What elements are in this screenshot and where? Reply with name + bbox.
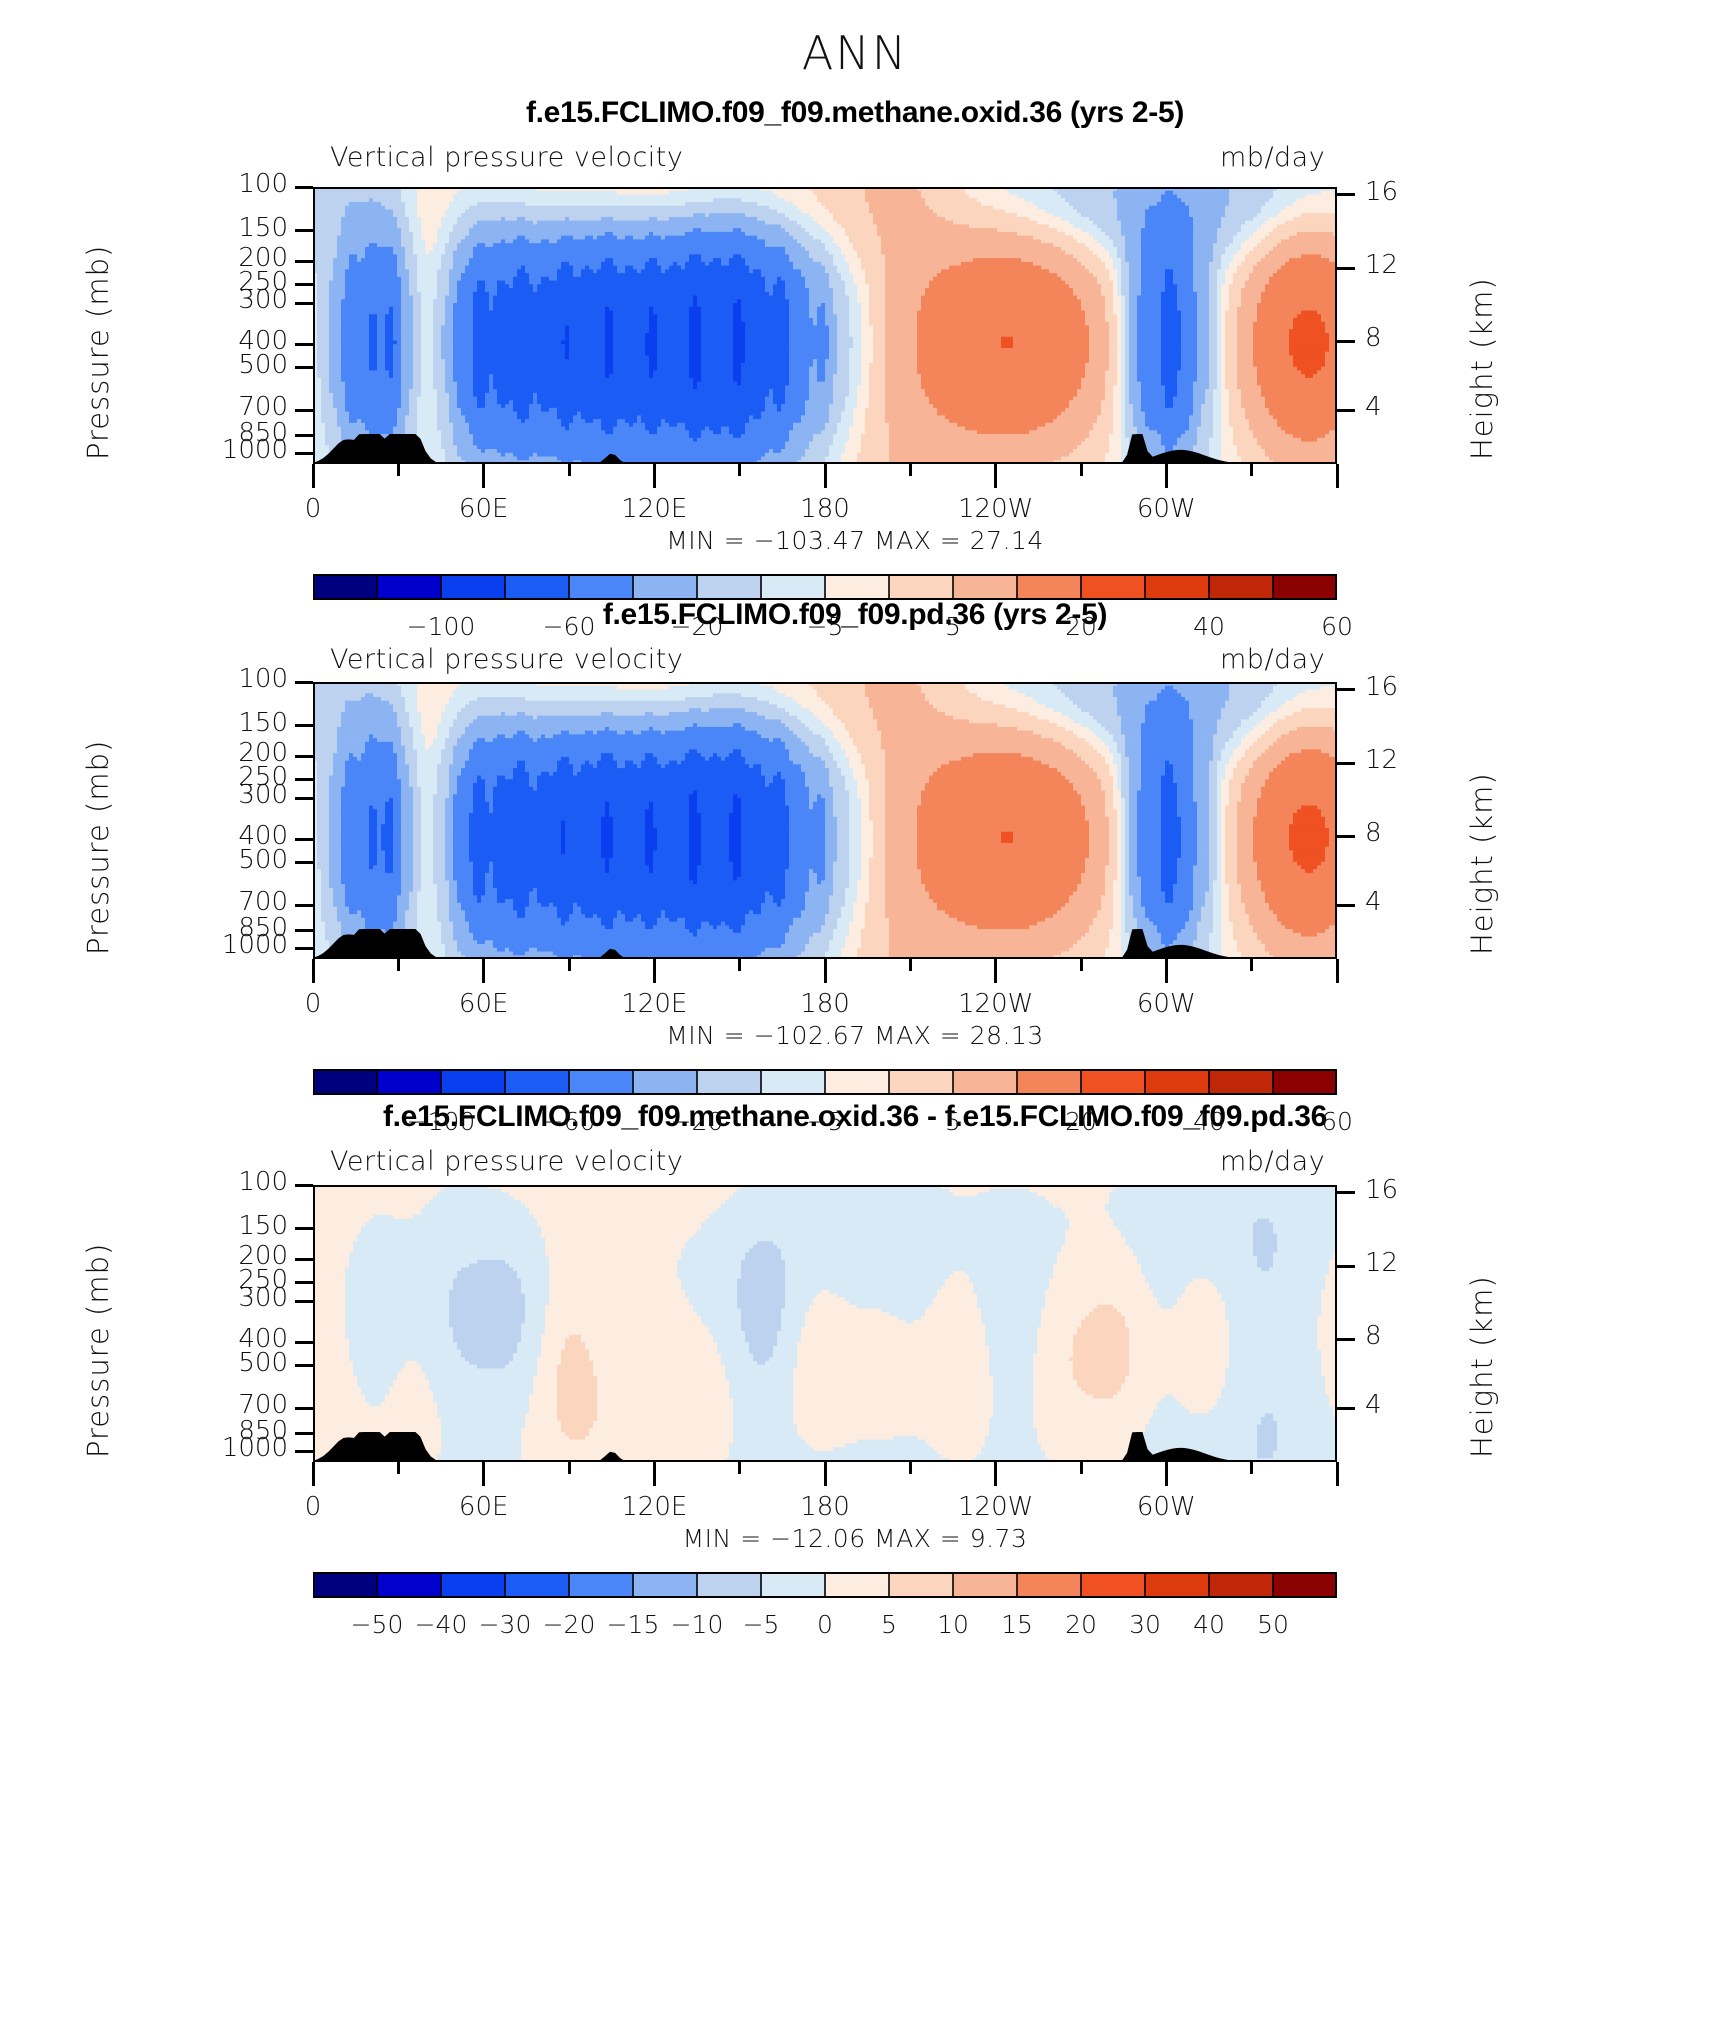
variable-label: Vertical pressure velocity [330,1146,683,1177]
lon-minor-tick [909,1462,912,1474]
height-tick [1337,193,1355,196]
pressure-tick [295,1407,313,1410]
lon-minor-tick [1080,959,1083,971]
lon-minor-tick [568,959,571,971]
contour-plot-area [313,1185,1337,1462]
pressure-tick [295,755,313,758]
lon-tick-label: 180 [755,494,895,524]
colorbar [313,1069,1337,1095]
pressure-tick-label: 500 [113,1348,288,1378]
lon-major-tick [312,959,315,983]
lon-tick-label: 60W [1096,494,1236,524]
lon-tick-label: 120E [584,1492,724,1522]
height-tick-label: 16 [1365,672,1445,702]
units-label: mb/day [1220,644,1325,675]
lon-major-tick [1336,464,1339,488]
height-axis-title: Height (km) [1465,277,1499,460]
lon-minor-tick [1250,1462,1253,1474]
lon-minor-tick [738,1462,741,1474]
height-tick-label: 12 [1365,745,1445,775]
lon-major-tick [312,1462,315,1486]
pressure-axis-title: Pressure (mb) [81,1243,115,1458]
height-tick [1337,688,1355,691]
pressure-tick-label: 300 [113,1283,288,1313]
variable-label: Vertical pressure velocity [330,142,683,173]
height-tick [1337,409,1355,412]
pressure-tick-label: 300 [113,780,288,810]
lon-major-tick [312,464,315,488]
height-tick-label: 4 [1365,1390,1445,1420]
pressure-tick [295,1281,313,1284]
pressure-tick [295,778,313,781]
lon-minor-tick [738,959,741,971]
min-max-label: MIN = −102.67 MAX = 28.13 [0,1021,1710,1050]
lon-tick-label: 180 [755,989,895,1019]
pressure-tick [295,838,313,841]
height-tick [1337,904,1355,907]
lon-tick-label: 0 [243,494,383,524]
lon-major-tick [1165,1462,1168,1486]
lon-minor-tick [1080,1462,1083,1474]
lon-major-tick [1165,959,1168,983]
pressure-tick [295,681,313,684]
lon-minor-tick [397,1462,400,1474]
lon-tick-label: 120W [926,989,1066,1019]
pressure-tick [295,929,313,932]
colorbar-tick-label: 60 [1257,612,1417,641]
pressure-tick-label: 100 [113,169,288,199]
panel-title: f.e15.FCLIMO.f09_f09.methane.oxid.36 (yr… [0,96,1710,130]
pressure-tick [295,724,313,727]
lon-tick-label: 60E [414,494,554,524]
pressure-tick-label: 1000 [113,1433,288,1463]
colorbar [313,1572,1337,1598]
min-max-label: MIN = −12.06 MAX = 9.73 [0,1524,1710,1553]
lon-major-tick [824,1462,827,1486]
colorbar [313,574,1337,600]
pressure-tick [295,186,313,189]
lon-minor-tick [397,464,400,476]
contour-plot-area [313,187,1337,464]
height-tick-label: 12 [1365,250,1445,280]
lon-tick-label: 60W [1096,1492,1236,1522]
lon-major-tick [1336,1462,1339,1486]
height-tick [1337,1338,1355,1341]
lon-minor-tick [1250,959,1253,971]
pressure-tick [295,366,313,369]
lon-minor-tick [1250,464,1253,476]
pressure-tick [295,1341,313,1344]
figure-root: ANN f.e15.FCLIMO.f09_f09.methane.oxid.36… [0,0,1710,2038]
lon-minor-tick [1080,464,1083,476]
pressure-tick [295,1258,313,1261]
height-tick-label: 12 [1365,1248,1445,1278]
pressure-axis-title: Pressure (mb) [81,740,115,955]
height-tick [1337,1265,1355,1268]
lon-major-tick [482,959,485,983]
pressure-tick [295,1450,313,1453]
lon-major-tick [653,464,656,488]
pressure-tick [295,409,313,412]
lon-major-tick [482,464,485,488]
pressure-tick [295,904,313,907]
height-tick-label: 8 [1365,1321,1445,1351]
height-tick [1337,1407,1355,1410]
pressure-tick [295,283,313,286]
height-tick [1337,762,1355,765]
height-tick-label: 8 [1365,818,1445,848]
pressure-tick-label: 300 [113,285,288,315]
lon-minor-tick [568,464,571,476]
lon-major-tick [1336,959,1339,983]
lon-minor-tick [397,959,400,971]
pressure-tick [295,343,313,346]
min-max-label: MIN = −103.47 MAX = 27.14 [0,526,1710,555]
height-tick [1337,340,1355,343]
pressure-tick [295,1184,313,1187]
lon-tick-label: 180 [755,1492,895,1522]
variable-label: Vertical pressure velocity [330,644,683,675]
contour-plot-area [313,682,1337,959]
pressure-tick [295,797,313,800]
pressure-tick [295,302,313,305]
pressure-tick [295,1364,313,1367]
pressure-tick-label: 1000 [113,435,288,465]
pressure-tick [295,861,313,864]
lon-major-tick [824,959,827,983]
height-axis-title: Height (km) [1465,1275,1499,1458]
units-label: mb/day [1220,1146,1325,1177]
lon-tick-label: 60W [1096,989,1236,1019]
lon-minor-tick [568,1462,571,1474]
lon-major-tick [653,959,656,983]
height-tick-label: 4 [1365,392,1445,422]
height-tick [1337,267,1355,270]
pressure-tick [295,1300,313,1303]
pressure-axis-title: Pressure (mb) [81,245,115,460]
colorbar-tick-label: 60 [1257,1107,1417,1136]
pressure-tick [295,1227,313,1230]
height-tick-label: 16 [1365,1175,1445,1205]
pressure-tick-label: 1000 [113,930,288,960]
panel-subheader: Vertical pressure velocity mb/day [0,142,1710,172]
lon-minor-tick [909,464,912,476]
pressure-tick-label: 100 [113,664,288,694]
height-axis-title: Height (km) [1465,772,1499,955]
lon-major-tick [482,1462,485,1486]
lon-tick-label: 0 [243,1492,383,1522]
lon-tick-label: 0 [243,989,383,1019]
height-tick-label: 8 [1365,323,1445,353]
pressure-tick-label: 100 [113,1167,288,1197]
pressure-tick-label: 150 [113,1211,288,1241]
lon-major-tick [994,959,997,983]
lon-tick-label: 120W [926,494,1066,524]
height-tick-label: 16 [1365,177,1445,207]
lon-tick-label: 120E [584,989,724,1019]
units-label: mb/day [1220,142,1325,173]
lon-tick-label: 120E [584,494,724,524]
height-tick [1337,835,1355,838]
lon-major-tick [824,464,827,488]
lon-major-tick [653,1462,656,1486]
height-tick-label: 4 [1365,887,1445,917]
lon-major-tick [994,1462,997,1486]
pressure-tick [295,229,313,232]
pressure-tick-label: 500 [113,845,288,875]
pressure-tick-label: 150 [113,213,288,243]
lon-tick-label: 60E [414,989,554,1019]
pressure-tick [295,947,313,950]
pressure-tick [295,1432,313,1435]
pressure-tick [295,260,313,263]
lon-tick-label: 60E [414,1492,554,1522]
season-title: ANN [0,26,1710,80]
height-tick [1337,1191,1355,1194]
colorbar-tick-label: 50 [1193,1610,1353,1639]
pressure-tick [295,452,313,455]
lon-minor-tick [738,464,741,476]
lon-major-tick [994,464,997,488]
lon-major-tick [1165,464,1168,488]
pressure-tick-label: 500 [113,350,288,380]
lon-minor-tick [909,959,912,971]
pressure-tick-label: 150 [113,708,288,738]
lon-tick-label: 120W [926,1492,1066,1522]
pressure-tick [295,434,313,437]
